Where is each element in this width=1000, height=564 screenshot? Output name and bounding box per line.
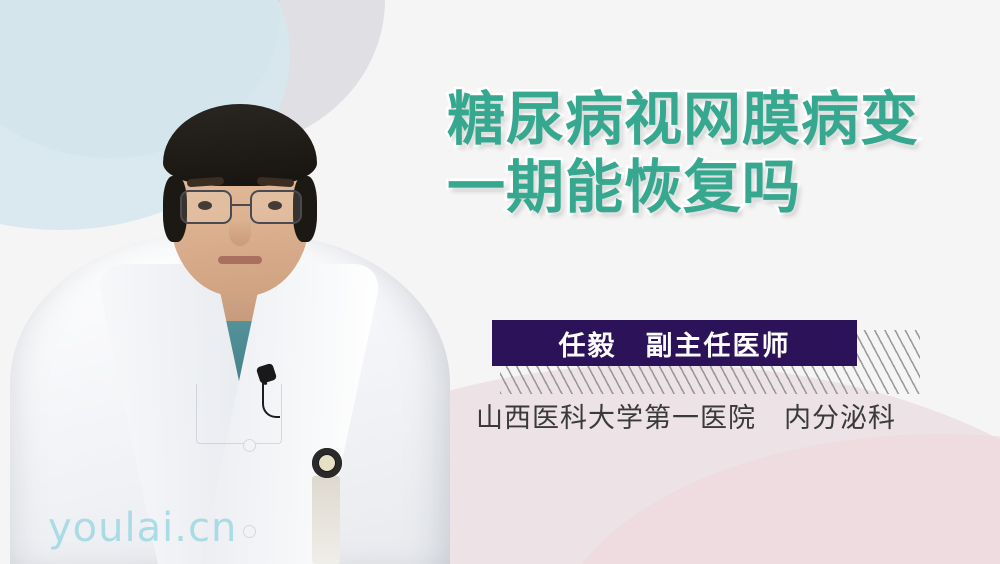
nose	[229, 220, 251, 246]
site-watermark: youlai.cn	[48, 505, 237, 551]
presenter-affiliation: 山西医科大学第一医院 内分泌科	[476, 396, 896, 435]
glasses-lens-right	[250, 190, 302, 224]
presenter-name-and-rank: 任毅 副主任医师	[559, 324, 791, 363]
name-banner-plate: 任毅 副主任医师	[492, 320, 857, 366]
glasses-bridge	[232, 204, 250, 207]
decorative-arc-pink	[550, 434, 1000, 564]
badge-reel-face	[319, 455, 335, 471]
doctor-portrait	[0, 0, 470, 564]
presenter-name-banner: 任毅 副主任医师	[492, 320, 922, 394]
video-title: 糖尿病视网膜病变 一期能恢复吗	[447, 86, 987, 222]
glasses-lens-left	[180, 190, 232, 224]
coat-button-top	[243, 439, 256, 452]
id-badge-card	[312, 476, 340, 564]
video-thumbnail: youlai.cn 糖尿病视网膜病变 一期能恢复吗 任毅 副主任医师 山西医科大…	[0, 0, 1000, 564]
microphone-cord	[262, 380, 280, 418]
hair	[163, 104, 317, 186]
title-line-2: 一期能恢复吗	[447, 154, 987, 222]
mouth	[218, 256, 262, 264]
title-line-1: 糖尿病视网膜病变	[447, 86, 987, 154]
coat-button-bottom	[243, 525, 256, 538]
